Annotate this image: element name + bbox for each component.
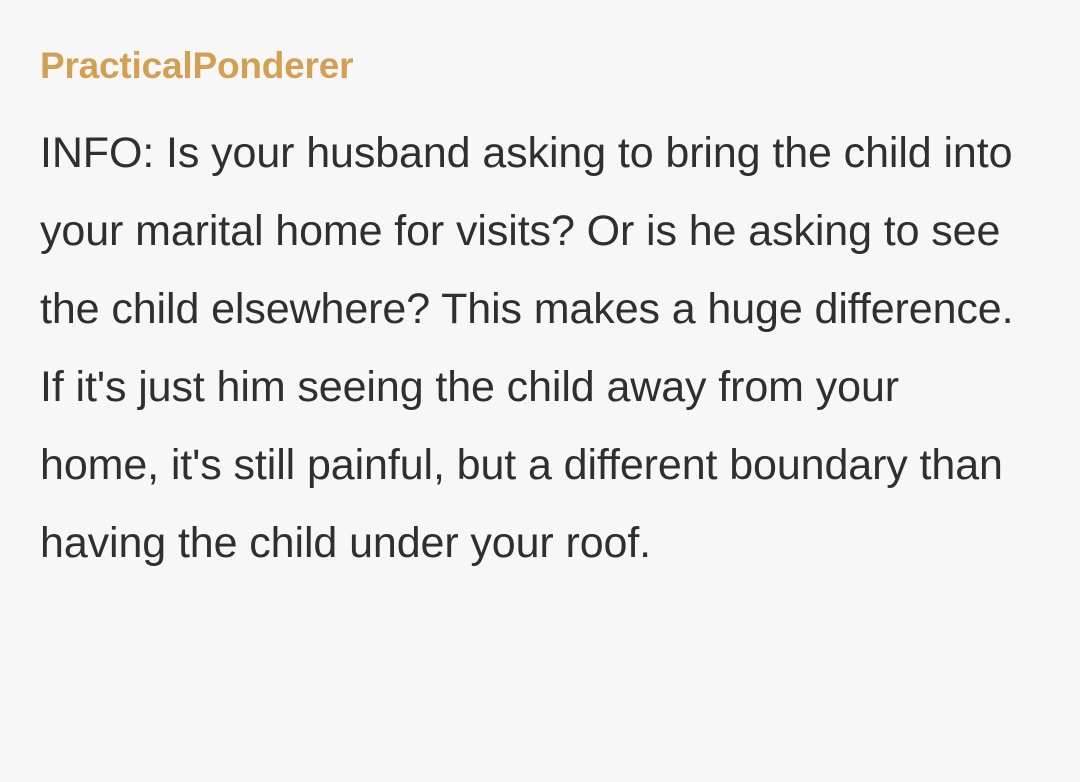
- post-card: PracticalPonderer INFO: Is your husband …: [0, 0, 1080, 782]
- post-author-name[interactable]: PracticalPonderer: [40, 44, 1026, 88]
- post-body-text: INFO: Is your husband asking to bring th…: [40, 114, 1026, 582]
